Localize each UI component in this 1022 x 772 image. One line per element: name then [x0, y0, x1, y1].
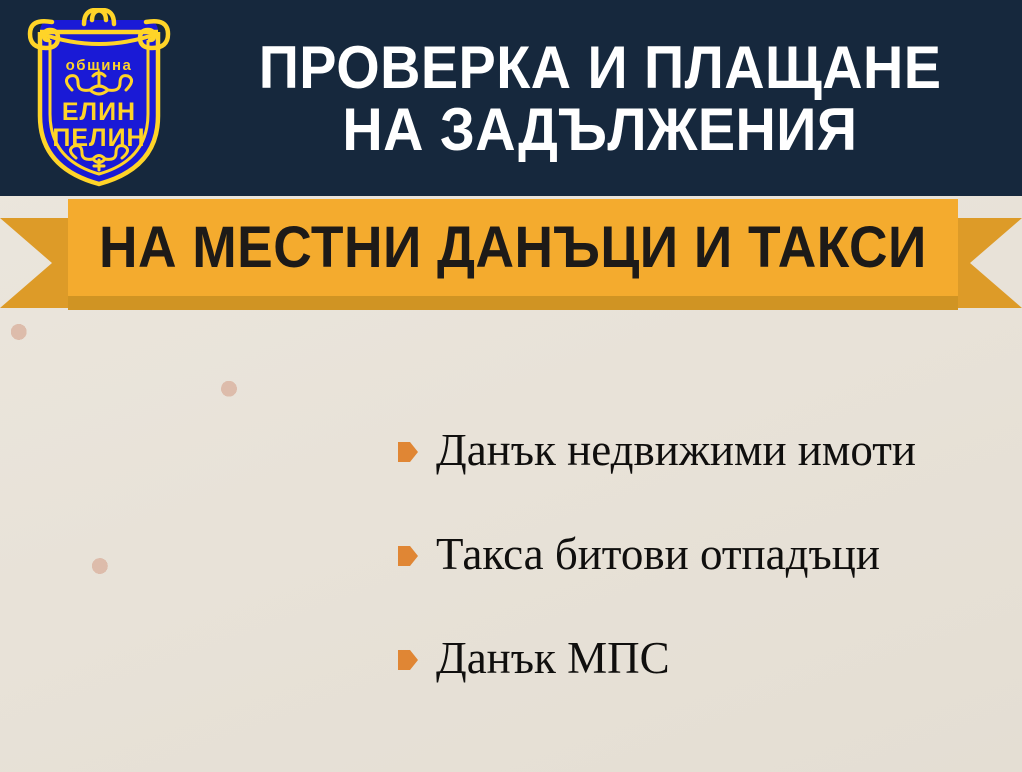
stamp-card-vehicle	[90, 520, 315, 745]
poster-header: община ЕЛИН ПЕЛИН	[0, 0, 1022, 196]
svg-text:ЕЛИН: ЕЛИН	[62, 98, 136, 126]
stamp-card-house	[10, 308, 216, 514]
list-item-label: Данък недвижими имоти	[436, 428, 916, 473]
bullet-arrow-icon	[398, 441, 418, 463]
bullet-arrow-icon	[398, 649, 418, 671]
stamp-paper-house	[36, 334, 190, 488]
tax-type-list: Данък недвижими имоти Такса битови отпад…	[398, 424, 1013, 684]
ribbon-label: НА МЕСТНИ ДАНЪЦИ И ТАКСИ	[99, 214, 927, 281]
list-item: Данък недвижими имоти	[398, 424, 1013, 476]
car-icon	[141, 578, 265, 688]
stamp-paper-vehicle	[119, 549, 287, 717]
municipality-logo: община ЕЛИН ПЕЛИН	[22, 8, 177, 188]
title-line-2: НА ЗАДЪЛЖЕНИЯ	[342, 99, 857, 161]
subtitle-ribbon: НА МЕСТНИ ДАНЪЦИ И ТАКСИ	[0, 196, 1022, 308]
poster-canvas: община ЕЛИН ПЕЛИН	[0, 0, 1022, 772]
list-item: Данък МПС	[398, 632, 1013, 684]
poster-title: ПРОВЕРКА И ПЛАЩАНЕ НА ЗАДЪЛЖЕНИЯ	[190, 18, 1010, 180]
ribbon-band: НА МЕСТНИ ДАНЪЦИ И ТАКСИ	[68, 199, 958, 296]
list-item-label: Данък МПС	[436, 636, 670, 681]
house-icon	[57, 359, 169, 464]
svg-text:ПЕЛИН: ПЕЛИН	[52, 124, 145, 152]
title-line-1: ПРОВЕРКА И ПЛАЩАНЕ	[259, 37, 942, 99]
bullet-arrow-icon	[398, 545, 418, 567]
list-item-label: Такса битови отпадъци	[436, 532, 880, 577]
list-item: Такса битови отпадъци	[398, 528, 1013, 580]
